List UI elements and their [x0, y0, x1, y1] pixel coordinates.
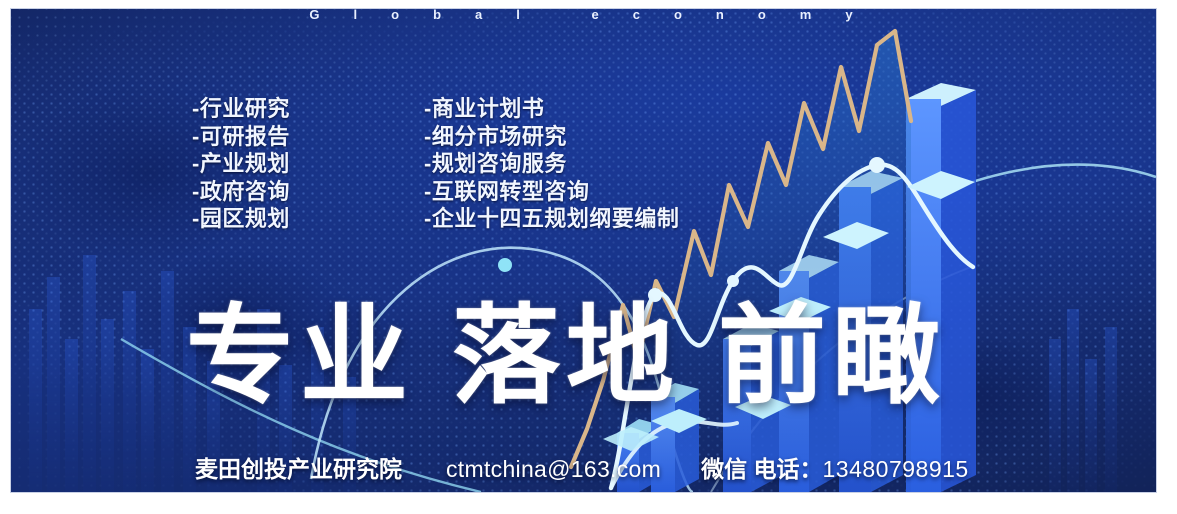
phone-number[interactable]: 13480798915	[822, 456, 968, 483]
service-item: -规划咨询服务	[424, 150, 679, 178]
screenshot-root: Global economy -行业研究 -可研报告 -产业规划 -政府咨询 -…	[0, 0, 1177, 514]
headline-word-1: 专业	[186, 301, 414, 411]
service-item: -商业计划书	[424, 95, 679, 123]
service-item: -细分市场研究	[424, 123, 679, 151]
org-name: 麦田创投产业研究院	[195, 450, 402, 484]
service-item: -行业研究	[192, 95, 290, 123]
email-address[interactable]: ctmtchina@163.com	[446, 456, 661, 483]
service-item: -产业规划	[192, 150, 290, 178]
headline: 专业落地前瞰	[186, 301, 946, 411]
service-item: -园区规划	[192, 205, 290, 233]
service-item: -政府咨询	[192, 178, 290, 206]
service-list-left: -行业研究 -可研报告 -产业规划 -政府咨询 -园区规划	[192, 95, 290, 233]
service-item: -可研报告	[192, 123, 290, 151]
curve-node-dot-c	[727, 275, 739, 287]
headline-word-3: 前瞰	[718, 301, 946, 411]
service-item: -互联网转型咨询	[424, 178, 679, 206]
service-list-right: -商业计划书 -细分市场研究 -规划咨询服务 -互联网转型咨询 -企业十四五规划…	[424, 95, 679, 233]
service-item: -企业十四五规划纲要编制	[424, 205, 679, 233]
phone-label: 微信 电话：	[701, 450, 822, 484]
headline-word-2: 落地	[452, 301, 680, 411]
arc-apex-dot	[498, 258, 512, 272]
promo-banner: Global economy -行业研究 -可研报告 -产业规划 -政府咨询 -…	[11, 9, 1156, 492]
kicker-text: Global economy	[71, 9, 1091, 22]
curve-node-dot-b	[869, 157, 885, 173]
contact-line: 麦田创投产业研究院ctmtchina@163.com微信 电话：13480798…	[195, 450, 969, 484]
chart-graphics	[11, 9, 1156, 492]
